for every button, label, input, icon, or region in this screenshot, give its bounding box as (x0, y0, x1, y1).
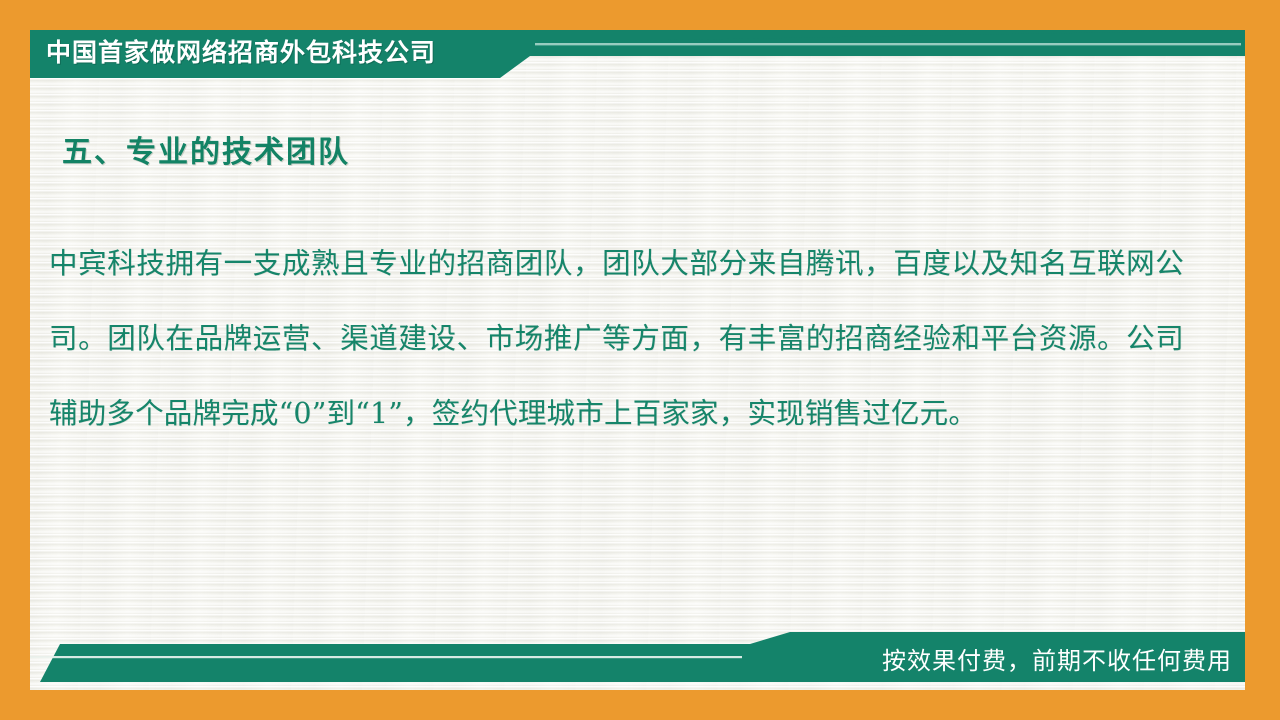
footer-tagline: 按效果付费，前期不收任何费用 (882, 646, 1232, 676)
header-banner-text: 中国首家做网络招商外包科技公司 (46, 36, 436, 70)
section-heading: 五、专业的技术团队 (62, 132, 350, 174)
body-paragraph: 中宾科技拥有一支成熟且专业的招商团队，团队大部分来自腾讯，百度以及知名互联网公司… (49, 226, 1184, 451)
slide-root: 中国首家做网络招商外包科技公司 五、专业的技术团队 中宾科技拥有一支成熟且专业的… (0, 0, 1280, 720)
